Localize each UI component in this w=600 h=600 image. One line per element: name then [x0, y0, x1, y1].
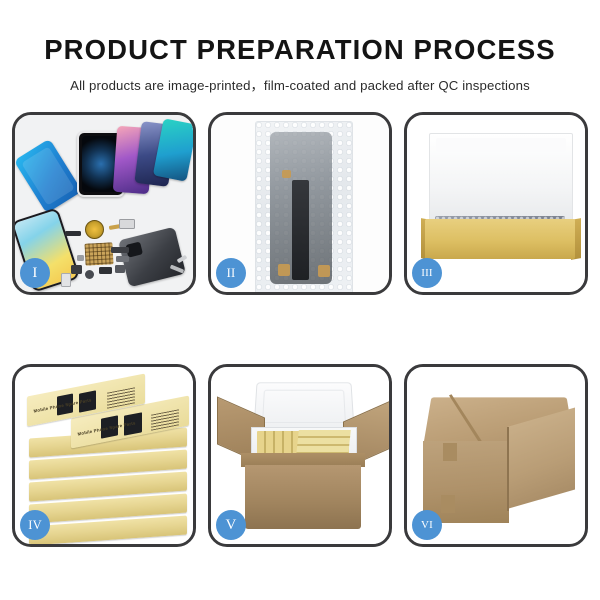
- spare-part-graphic: [61, 273, 71, 287]
- page-title: PRODUCT PREPARATION PROCESS: [0, 0, 600, 66]
- spare-part-graphic: [77, 255, 84, 261]
- spare-part-graphic: [111, 247, 129, 253]
- process-step-grid: I II: [12, 112, 588, 547]
- spare-part-graphic: [71, 265, 82, 274]
- step-badge-1: I: [20, 258, 50, 288]
- carton-front-face-graphic: [423, 441, 509, 523]
- carton-tape-graphic: [443, 443, 457, 461]
- spare-part-graphic: [116, 256, 129, 262]
- spare-part-graphic: [115, 265, 125, 273]
- chip-array-graphic: [84, 242, 113, 265]
- infographic-page: PRODUCT PREPARATION PROCESS All products…: [0, 0, 600, 600]
- copper-coil-graphic: [85, 220, 104, 239]
- carton-edge-graphic: [507, 427, 509, 511]
- wrapped-flex-cable-graphic: [292, 180, 309, 280]
- process-step-panel-1: I: [12, 112, 196, 295]
- process-step-panel-2: II: [208, 112, 392, 295]
- step-badge-5: V: [216, 510, 246, 540]
- wrapped-connector-graphic: [318, 265, 330, 277]
- step-badge-2: II: [216, 258, 246, 288]
- yellow-inner-box-graphic: [425, 219, 575, 259]
- process-step-panel-5: V: [208, 364, 392, 547]
- spare-part-graphic: [65, 231, 81, 236]
- foam-lid-graphic: [429, 133, 573, 223]
- bubble-wrap-bag-graphic: [255, 121, 353, 292]
- foam-lid-open-graphic: [253, 382, 354, 431]
- wrapped-connector-graphic: [282, 170, 291, 178]
- process-step-panel-4: Mobile Phone Spare Parts Mobile Phone Sp…: [12, 364, 196, 547]
- step-badge-6: VI: [412, 510, 442, 540]
- carton-tape-graphic: [441, 495, 455, 513]
- box-stack-graphic: Mobile Phone Spare Parts Mobile Phone Sp…: [23, 381, 191, 533]
- process-step-panel-3: III: [404, 112, 588, 295]
- spare-part-graphic: [85, 270, 94, 279]
- page-subtitle: All products are image-printed，film-coat…: [0, 66, 600, 94]
- step-badge-4: IV: [20, 510, 50, 540]
- page-header: PRODUCT PREPARATION PROCESS All products…: [0, 0, 600, 94]
- wrapped-connector-graphic: [278, 264, 290, 276]
- process-step-panel-6: VI: [404, 364, 588, 547]
- carton-body-graphic: [245, 465, 361, 529]
- spare-part-graphic: [119, 219, 135, 229]
- step-badge-3: III: [412, 258, 442, 288]
- spare-part-graphic: [99, 267, 112, 274]
